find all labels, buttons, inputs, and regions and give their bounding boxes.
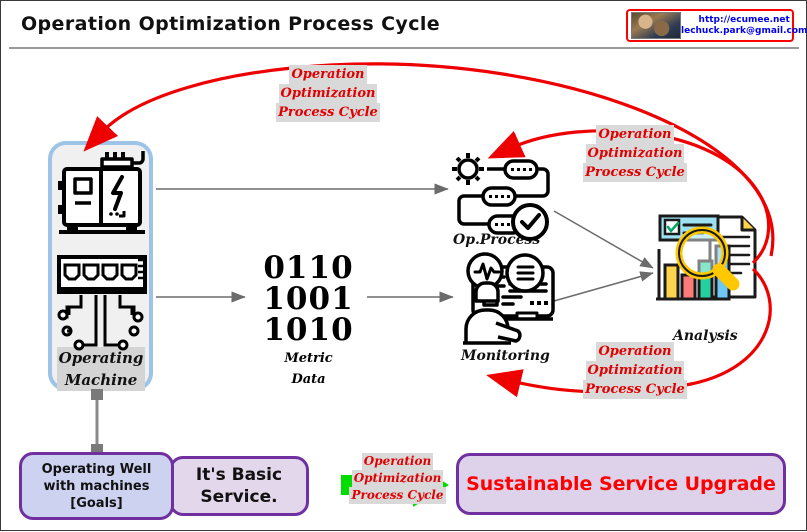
monitoring-person-screen-icon <box>463 254 553 343</box>
metric-bits-row-3: 1010 <box>251 315 366 346</box>
chart-magnifier-report-icon <box>656 216 755 299</box>
annotation-right-line-2: Optimization <box>586 144 685 163</box>
goals-line-3: [Goals] <box>42 495 152 512</box>
workflow-process-icon <box>452 153 548 239</box>
basic-line-1: It's Basic <box>196 464 282 486</box>
annotation-top-line-1: Operation <box>289 65 366 84</box>
goals-line-2: with machines <box>42 478 152 495</box>
diagram-canvas: Operation Optimization Process Cycle htt… <box>0 0 807 531</box>
flow-line-1: Operation <box>362 453 433 470</box>
goals-box[interactable]: Operating Well with machines [Goals] <box>19 452 174 520</box>
monitoring-label: Monitoring <box>461 348 550 364</box>
goals-line-1: Operating Well <box>42 461 152 478</box>
basic-service-box[interactable]: It's Basic Service. <box>169 456 309 516</box>
annotation-bottom-line-2: Optimization <box>586 361 685 380</box>
machine-label: Operating Machine <box>57 347 145 391</box>
title-divider <box>9 47 799 49</box>
process-label: Op.Process <box>453 232 540 248</box>
annotation-bottom-line-3: Process Cycle <box>583 380 687 399</box>
annotation-top-line-2: Optimization <box>279 84 378 103</box>
annotation-flow-cycle: Operation Optimization Process Cycle <box>345 453 450 504</box>
brand-badge[interactable]: http://ecumee.net lechuck.park@gmail.com <box>626 9 794 42</box>
photo-thumbnail-icon <box>631 12 681 39</box>
upgrade-text: Sustainable Service Upgrade <box>466 473 776 495</box>
basic-line-2: Service. <box>196 486 282 508</box>
annotation-top-cycle: Operation Optimization Process Cycle <box>274 65 382 122</box>
annotation-bottom-line-1: Operation <box>596 342 673 361</box>
brand-contact: http://ecumee.net lechuck.park@gmail.com <box>681 15 807 37</box>
metric-label-line-2: Data <box>251 371 366 388</box>
metric-bits-row-1: 0110 <box>251 253 366 284</box>
flow-line-3: Process Cycle <box>349 487 445 504</box>
page-title: Operation Optimization Process Cycle <box>21 13 440 35</box>
annotation-right-line-3: Process Cycle <box>583 163 687 182</box>
annotation-top-line-3: Process Cycle <box>276 103 380 122</box>
metric-bits-row-2: 1001 <box>251 284 366 315</box>
brand-url[interactable]: http://ecumee.net <box>681 15 807 26</box>
arrow-process-to-analysis <box>554 211 653 268</box>
brand-email[interactable]: lechuck.park@gmail.com <box>681 26 807 37</box>
flow-line-2: Optimization <box>352 470 444 487</box>
annotation-bottom-cycle: Operation Optimization Process Cycle <box>581 342 689 399</box>
arrow-monitoring-to-analysis <box>554 273 653 301</box>
metric-label-line-1: Metric <box>251 350 366 367</box>
annotation-right-line-1: Operation <box>596 125 673 144</box>
machine-label-line-1: Operating <box>57 347 145 369</box>
metric-data-node: 0110 1001 1010 Metric Data <box>251 253 366 388</box>
annotation-right-cycle: Operation Optimization Process Cycle <box>581 125 689 182</box>
machine-label-line-2: Machine <box>57 369 145 391</box>
sustainable-upgrade-box[interactable]: Sustainable Service Upgrade <box>456 453 786 515</box>
